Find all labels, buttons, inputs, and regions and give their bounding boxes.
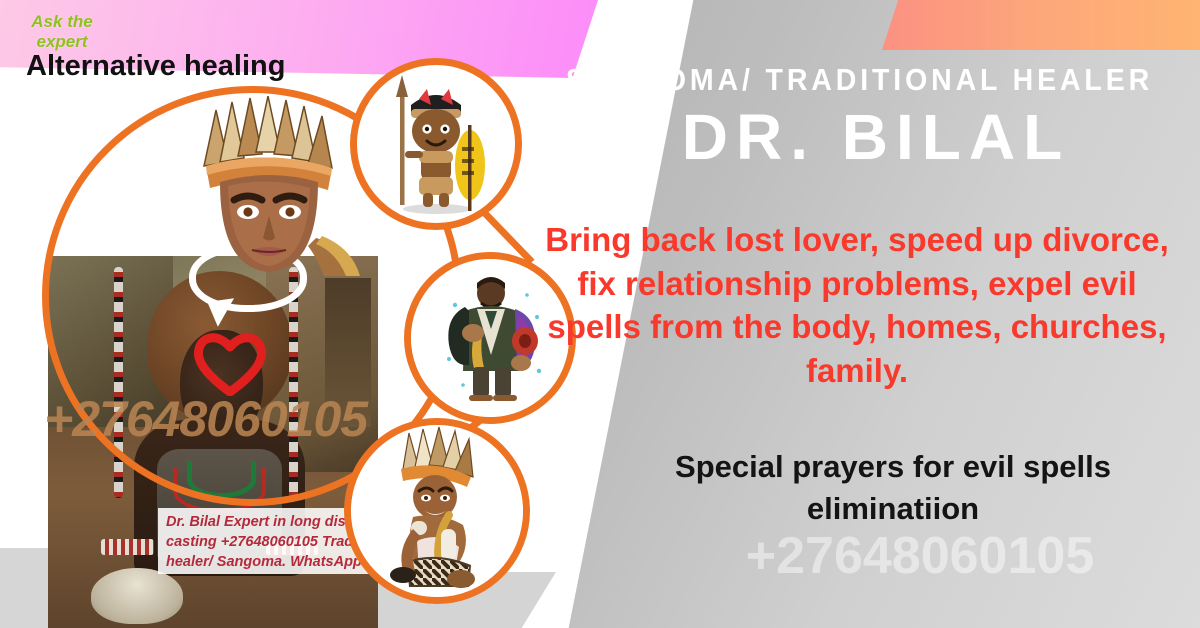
orange-banner-shape: [882, 0, 1200, 50]
circle-zulu-warrior[interactable]: [350, 58, 522, 230]
watermark-phone-number: +27648060105: [660, 526, 1180, 586]
page-title: DR. BILAL: [566, 100, 1186, 174]
circle-crouching-sangoma[interactable]: [344, 418, 530, 604]
kicker-text: SANGOMA/ TRADITIONAL HEALER: [566, 62, 1127, 98]
poster-canvas: Alternative healing Ask the expert +2764…: [0, 0, 1200, 628]
special-prayers-text: Special prayers for evil spells eliminat…: [612, 446, 1174, 529]
crouching-sangoma-icon: [351, 425, 523, 597]
feather-headdress-healer-illustration: [176, 96, 362, 276]
services-description: Bring back lost lover, speed up divorce,…: [540, 218, 1174, 392]
zulu-warrior-icon: [357, 65, 515, 223]
speech-bubble-text: Ask the expert: [14, 12, 110, 51]
alternative-healing-label: Alternative healing: [26, 50, 285, 83]
